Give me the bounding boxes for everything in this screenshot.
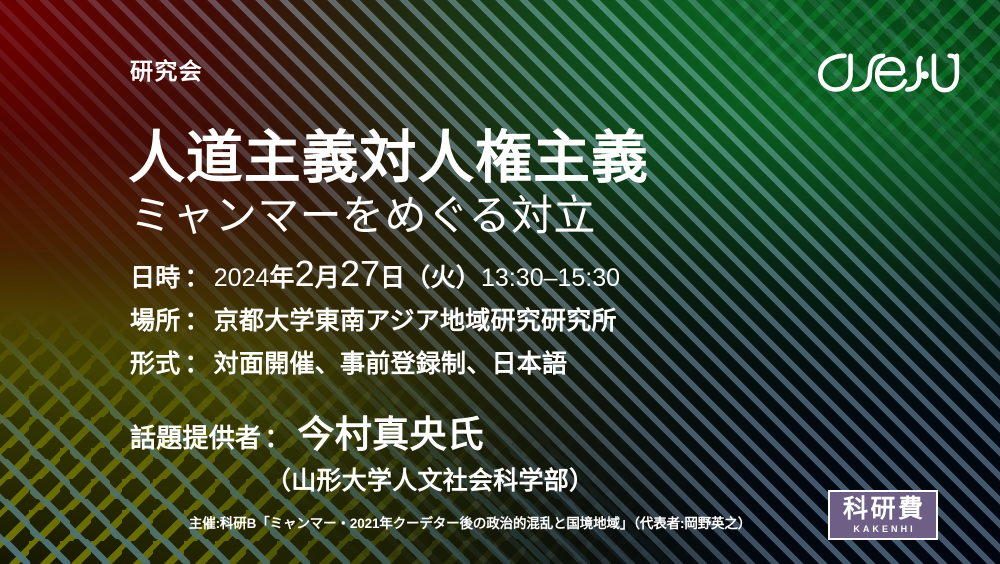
detail-day-unit-and-weekday: 日（火） — [380, 258, 481, 294]
poster-content: 研究会 人道主義対人権主義 ミャンマーをめぐる対立 日時 ： 2024 年 2 … — [0, 0, 1000, 564]
detail-separator: ： — [185, 258, 210, 294]
detail-label-datetime: 日時 — [130, 258, 181, 294]
detail-separator: ： — [185, 301, 210, 337]
detail-year-unit: 年 — [269, 258, 294, 294]
speaker-label: 話題提供者 — [130, 418, 261, 455]
kakenhi-label-en: KAKENHI — [850, 525, 915, 534]
detail-label-venue: 場所 — [130, 301, 181, 337]
event-details: 日時 ： 2024 年 2 月 27 日（火） 13:30–15:30 場所 ：… — [130, 258, 620, 387]
speaker-section: 話題提供者 ： 今村真央氏 （山形大学人文社会科学部） — [130, 404, 594, 497]
detail-row-format: 形式 ： 対面開催、事前登録制、日本語 — [130, 344, 620, 380]
speaker-name: 今村真央氏 — [297, 404, 484, 458]
speaker-separator: ： — [264, 418, 290, 455]
event-category-label: 研究会 — [130, 52, 203, 86]
detail-value-format: 対面開催、事前登録制、日本語 — [214, 344, 568, 380]
seminar-poster: 研究会 人道主義対人権主義 ミャンマーをめぐる対立 日時 ： 2024 年 2 … — [0, 0, 1000, 564]
detail-time-range: 13:30–15:30 — [481, 264, 620, 293]
detail-month-unit: 月 — [315, 258, 340, 294]
speaker-affiliation: （山形大学人文社会科学部） — [266, 461, 594, 497]
detail-value-venue: 京都大学東南アジア地域研究研究所 — [214, 301, 617, 337]
speaker-name-line: 話題提供者 ： 今村真央氏 — [130, 404, 594, 458]
detail-label-format: 形式 — [130, 344, 181, 380]
page-subtitle: ミャンマーをめぐる対立 — [130, 195, 596, 237]
kakenhi-label-jp: 科研費 — [840, 497, 925, 522]
detail-year: 2024 — [214, 264, 270, 293]
detail-separator: ： — [185, 344, 210, 380]
detail-day-number: 27 — [340, 260, 380, 289]
detail-row-datetime: 日時 ： 2024 年 2 月 27 日（火） 13:30–15:30 — [130, 258, 620, 294]
page-title: 人道主義対人権主義 — [128, 130, 649, 187]
cseas-logo — [809, 40, 967, 98]
detail-row-venue: 場所 ： 京都大学東南アジア地域研究研究所 — [130, 301, 620, 337]
kakenhi-badge: 科研費 KAKENHI — [828, 490, 938, 540]
detail-month-number: 2 — [295, 260, 315, 289]
